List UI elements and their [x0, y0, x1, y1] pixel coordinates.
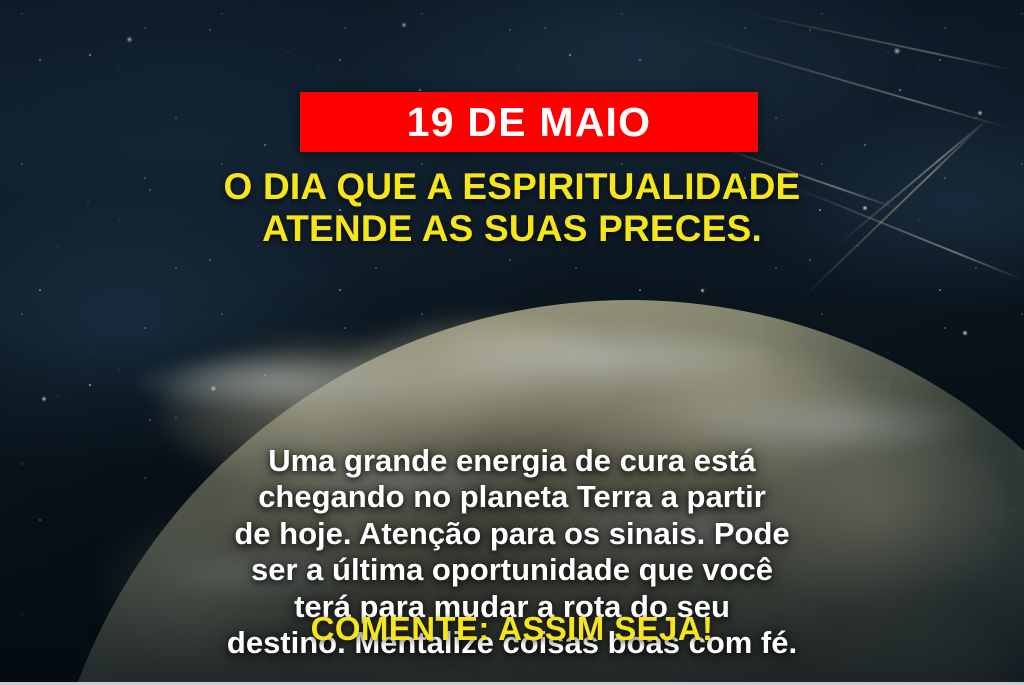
body-line-3: de hoje. Atenção para os sinais. Pode [0, 516, 1024, 552]
call-to-action-label: COMENTE: ASSIM SEJA! [311, 610, 714, 647]
headline-line-1: O DIA QUE A ESPIRITUALIDADE [0, 166, 1024, 208]
body-line-2: chegando no planeta Terra a partir [0, 479, 1024, 515]
poster-canvas: 19 DE MAIO O DIA QUE A ESPIRITUALIDADE A… [0, 0, 1024, 685]
date-banner-label: 19 DE MAIO [407, 102, 651, 143]
headline-line-2: ATENDE AS SUAS PRECES. [0, 208, 1024, 250]
headline: O DIA QUE A ESPIRITUALIDADE ATENDE AS SU… [0, 166, 1024, 250]
body-line-1: Uma grande energia de cura está [0, 443, 1024, 479]
date-banner: 19 DE MAIO [300, 92, 758, 152]
poster-content: 19 DE MAIO O DIA QUE A ESPIRITUALIDADE A… [0, 0, 1024, 685]
call-to-action: COMENTE: ASSIM SEJA! [0, 612, 1024, 645]
body-line-4: ser a última oportunidade que você [0, 552, 1024, 588]
